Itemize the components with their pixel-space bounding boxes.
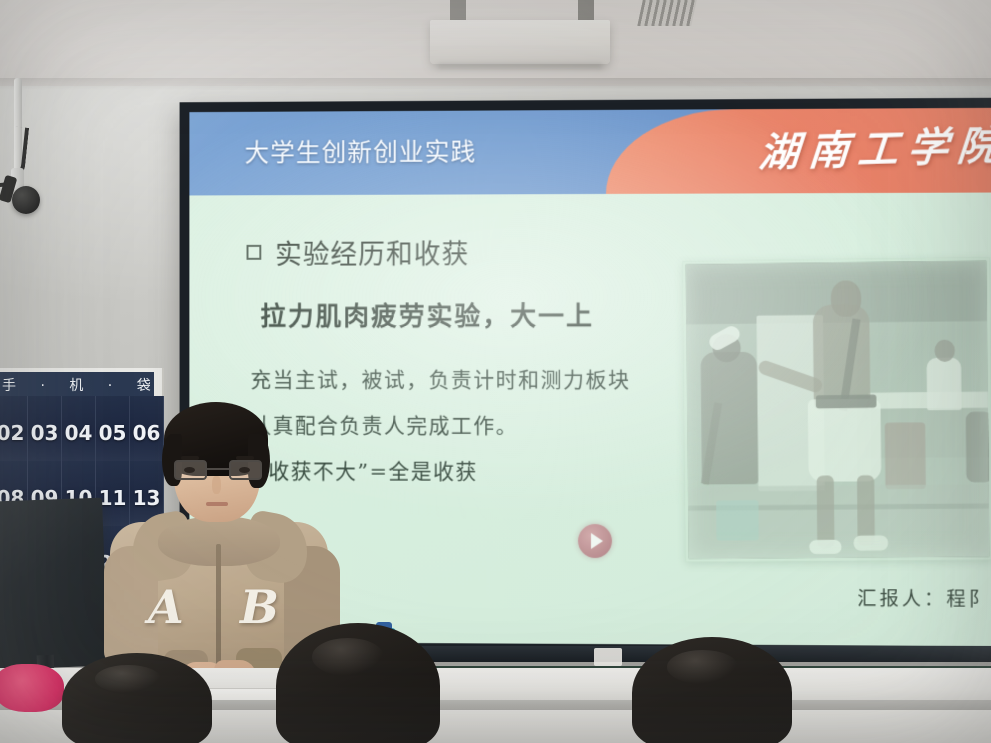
ceiling-vent <box>637 0 697 26</box>
presenter-eye-right <box>239 467 250 473</box>
hair-highlight <box>667 650 737 684</box>
photo-subject-shoe-right <box>854 535 889 550</box>
projector-mount-right <box>578 0 594 22</box>
photo-seated-person <box>927 358 962 411</box>
photo-seated-head <box>934 340 955 362</box>
pouch-slot[interactable]: 02 <box>0 396 28 461</box>
hair-highlight <box>95 665 161 694</box>
hair-highlight <box>312 638 384 676</box>
pouch-slot[interactable]: 04 <box>62 396 96 461</box>
slide-subheading: 拉力肌肉疲劳实验，大一上 <box>260 296 594 333</box>
pink-bag[interactable] <box>0 664 64 712</box>
presenter-nose <box>212 476 221 494</box>
photo-crate <box>716 500 759 540</box>
audience-head <box>632 637 792 743</box>
hoodie-letter-right: B <box>240 580 279 634</box>
audience-head <box>62 653 212 743</box>
classroom-scene: 手 · 机 · 袋 02 03 04 05 06 08 09 10 11 13 … <box>0 0 991 743</box>
ceiling-shadow <box>0 78 991 90</box>
desk-device[interactable] <box>594 648 622 666</box>
presenter-mouth <box>206 502 228 506</box>
microphone-head-icon <box>12 186 40 214</box>
school-name-logo: 湖南工学院 <box>757 113 991 179</box>
presenter-credit: 汇报人：程阝 <box>857 584 991 612</box>
square-bullet-icon <box>247 245 262 260</box>
glasses-bridge <box>207 468 229 470</box>
photo-subject-head <box>831 280 862 317</box>
slide-header-band: 大学生创新创业实践 湖南工学院 <box>189 108 991 196</box>
photo-subject-belt <box>816 395 877 409</box>
photo-subject-shoe-left <box>809 540 841 554</box>
play-icon <box>591 533 603 549</box>
play-button[interactable] <box>578 524 612 558</box>
photo-seated-person-2 <box>966 412 991 483</box>
audience-head <box>276 623 440 743</box>
ceiling-projector <box>430 20 610 64</box>
pouch-number: 02 <box>0 421 24 445</box>
presenter-eye-left <box>184 467 195 473</box>
slide-body-line: 充当主试，被试，负责计时和测力板块 <box>250 364 630 394</box>
hoodie-letter-left: A <box>148 580 184 634</box>
podium-monitor[interactable] <box>0 498 108 671</box>
photo-subject-leg-left <box>817 476 835 548</box>
slide-bullet-heading: 实验经历和收获 <box>275 232 469 271</box>
pouch-number: 04 <box>65 421 93 445</box>
projector-mount-left <box>450 0 466 22</box>
pouch-number: 03 <box>31 421 59 445</box>
slide-photo <box>683 257 991 561</box>
slide-bullet-heading-row: 实验经历和收获 <box>247 232 470 271</box>
phone-pouch-title: 手 · 机 · 袋 <box>0 372 154 398</box>
photo-subject-shorts <box>808 399 882 482</box>
slide-title: 大学生创新创业实践 <box>245 133 477 170</box>
pouch-slot[interactable]: 03 <box>28 396 62 461</box>
photo-chair <box>885 422 926 489</box>
